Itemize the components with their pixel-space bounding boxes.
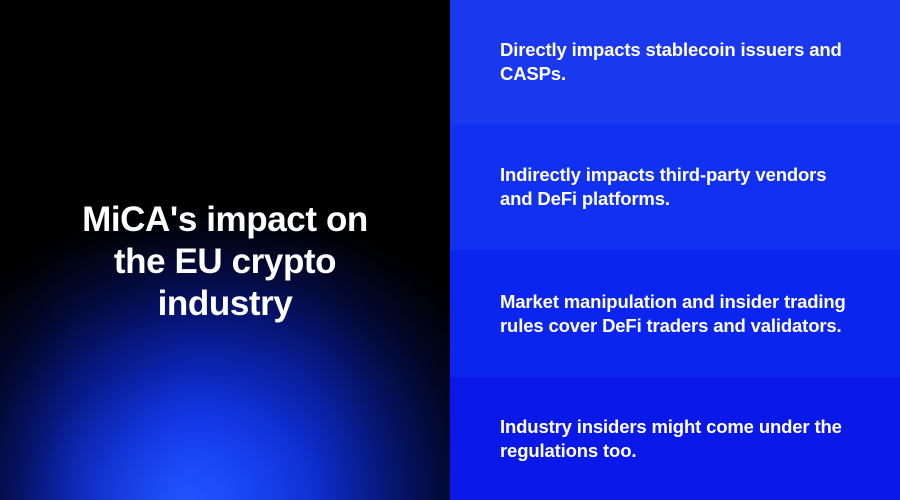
fact-text: Industry insiders might come under the r… (500, 415, 848, 463)
fact-text: Indirectly impacts third-party vendors a… (500, 163, 848, 211)
facts-panel: Directly impacts stablecoin issuers and … (450, 0, 900, 500)
fact-row: Directly impacts stablecoin issuers and … (450, 0, 900, 124)
fact-row: Industry insiders might come under the r… (450, 377, 900, 500)
fact-text: Directly impacts stablecoin issuers and … (500, 38, 848, 86)
title-panel: MiCA's impact on the EU crypto industry (0, 0, 450, 500)
page-title: MiCA's impact on the EU crypto industry (0, 23, 450, 500)
fact-row: Indirectly impacts third-party vendors a… (450, 124, 900, 250)
slide-canvas: MiCA's impact on the EU crypto industry … (0, 0, 900, 500)
fact-row: Market manipulation and insider trading … (450, 250, 900, 377)
fact-text: Market manipulation and insider trading … (500, 290, 848, 338)
